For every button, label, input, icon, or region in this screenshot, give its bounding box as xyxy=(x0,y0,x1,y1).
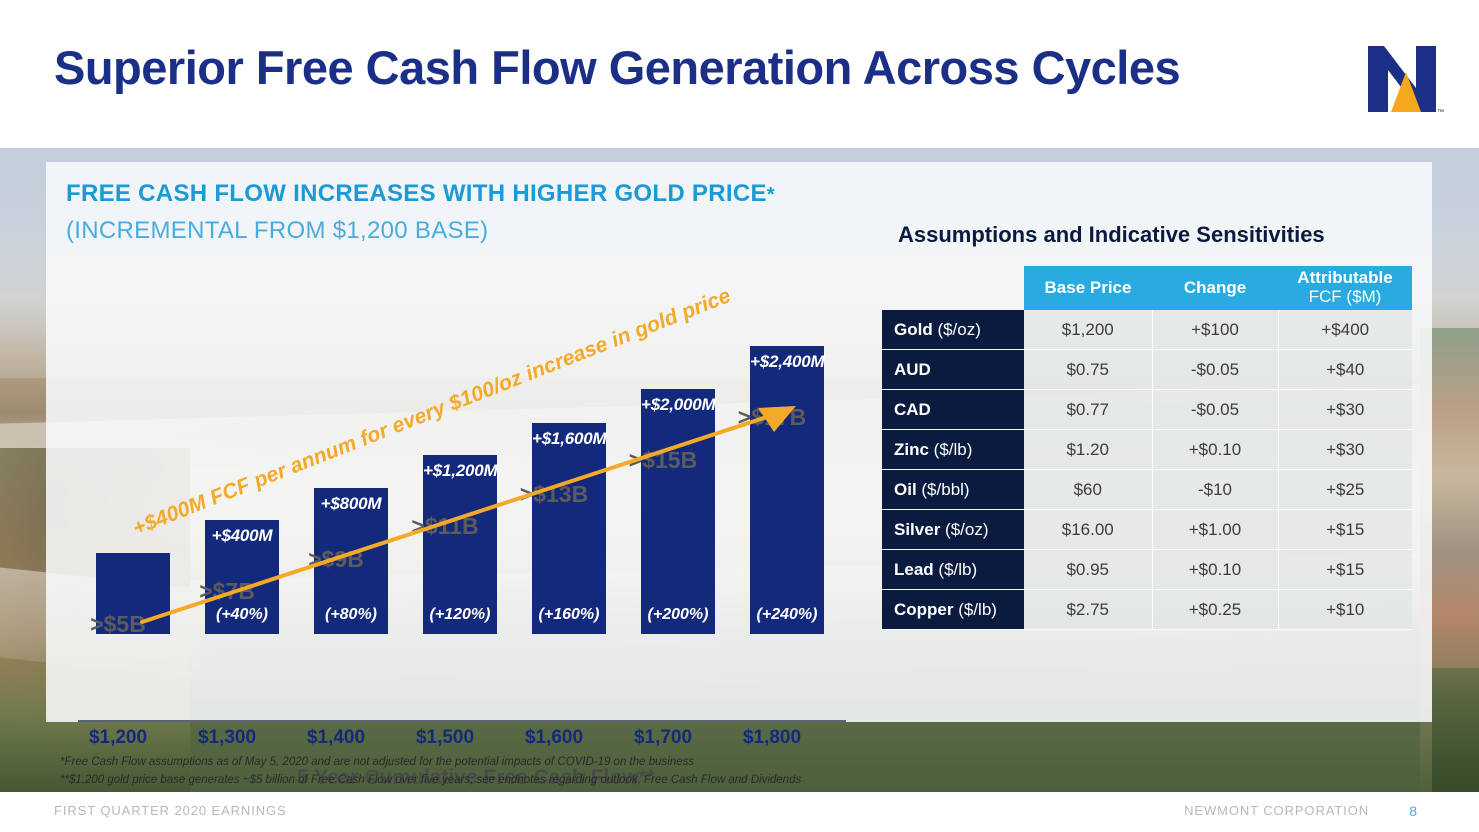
chart-bar: +$400M (+40%) xyxy=(205,520,279,634)
table-row: AUD $0.75 -$0.05 +$40 xyxy=(882,350,1412,390)
footer-presentation-name: FIRST QUARTER 2020 EARNINGS xyxy=(54,803,287,818)
row-name: CAD xyxy=(894,400,931,419)
row-label-cad: CAD xyxy=(882,390,1024,430)
bar-increment-label: +$400M xyxy=(205,526,279,546)
column-header-change: Change xyxy=(1152,266,1278,310)
bar-total-label: >$9B xyxy=(281,546,391,573)
bar-total-label: >$11B xyxy=(390,513,500,540)
table-row: Copper ($/lb) $2.75 +$0.25 +$10 xyxy=(882,590,1412,630)
bar-total-label: >$13B xyxy=(499,481,609,508)
chart-heading-text: FREE CASH FLOW INCREASES WITH HIGHER GOL… xyxy=(66,180,767,207)
chart-plot-area: +$400M (+40%) +$800M (+80%) +$1,200M (+1… xyxy=(78,248,848,634)
row-unit: ($/oz) xyxy=(933,320,981,339)
bar-percent-label: (+80%) xyxy=(314,606,388,624)
row-label-silver: Silver ($/oz) xyxy=(882,510,1024,550)
cell-change: -$10 xyxy=(1152,470,1278,510)
page-footer: FIRST QUARTER 2020 EARNINGS NEWMONT CORP… xyxy=(0,792,1479,832)
column-header-line1: Attributable xyxy=(1297,268,1392,287)
bar-increment-label: +$800M xyxy=(314,494,388,514)
column-header-line2: FCF ($M) xyxy=(1309,287,1382,306)
chart-xtick: $1,200 xyxy=(63,727,173,749)
chart-bar: +$1,200M (+120%) xyxy=(423,455,497,634)
bar-increment-label: +$1,600M xyxy=(532,429,606,449)
footer-company-name: NEWMONT CORPORATION xyxy=(1184,803,1369,818)
row-label-copper: Copper ($/lb) xyxy=(882,590,1024,630)
photo-right-vegetation xyxy=(1432,668,1479,792)
newmont-logo: ™ xyxy=(1360,42,1444,118)
bar-percent-label: (+240%) xyxy=(750,606,824,624)
row-unit: ($/lb) xyxy=(934,560,977,579)
chart-xtick: $1,700 xyxy=(608,727,718,749)
column-header-attributable-fcf: Attributable FCF ($M) xyxy=(1278,266,1412,310)
cell-fcf: +$15 xyxy=(1278,550,1412,590)
chart-baseline xyxy=(78,720,846,722)
table-header-row: Base Price Change Attributable FCF ($M) xyxy=(882,266,1412,310)
slide-header: Superior Free Cash Flow Generation Acros… xyxy=(0,0,1479,148)
cell-change: +$0.10 xyxy=(1152,550,1278,590)
sensitivities-table: Base Price Change Attributable FCF ($M) … xyxy=(882,266,1412,630)
chart-xtick: $1,400 xyxy=(281,727,391,749)
row-name: Gold xyxy=(894,320,933,339)
cell-fcf: +$10 xyxy=(1278,590,1412,630)
footer-page-number: 8 xyxy=(1409,803,1417,819)
cell-fcf: +$30 xyxy=(1278,390,1412,430)
cell-base-price: $1.20 xyxy=(1024,430,1152,470)
bar-total-label: >$17B xyxy=(717,404,827,431)
content-card: FREE CASH FLOW INCREASES WITH HIGHER GOL… xyxy=(46,162,1432,722)
footnote-line-1: *Free Cash Flow assumptions as of May 5,… xyxy=(60,754,801,772)
slide: Superior Free Cash Flow Generation Acros… xyxy=(0,0,1479,832)
cell-base-price: $1,200 xyxy=(1024,310,1152,350)
chart-xtick: $1,300 xyxy=(172,727,282,749)
column-header-blank xyxy=(882,266,1024,310)
cell-change: +$0.10 xyxy=(1152,430,1278,470)
table-row: Zinc ($/lb) $1.20 +$0.10 +$30 xyxy=(882,430,1412,470)
table-row: Oil ($/bbl) $60 -$10 +$25 xyxy=(882,470,1412,510)
chart-xtick: $1,600 xyxy=(499,727,609,749)
bar-total-label: >$15B xyxy=(608,447,718,474)
row-label-zinc: Zinc ($/lb) xyxy=(882,430,1024,470)
bar-percent-label: (+160%) xyxy=(532,606,606,624)
row-name: AUD xyxy=(894,360,931,379)
chart-heading-asterisk: * xyxy=(767,184,775,206)
row-label-oil: Oil ($/bbl) xyxy=(882,470,1024,510)
cell-change: +$100 xyxy=(1152,310,1278,350)
row-label-gold: Gold ($/oz) xyxy=(882,310,1024,350)
row-label-aud: AUD xyxy=(882,350,1024,390)
row-name: Zinc xyxy=(894,440,929,459)
footnotes: *Free Cash Flow assumptions as of May 5,… xyxy=(60,754,801,790)
bar-increment-label: +$2,400M xyxy=(750,352,824,372)
cell-change: -$0.05 xyxy=(1152,350,1278,390)
bar-total-label: >$7B xyxy=(172,578,282,605)
fcf-bar-chart: +$400M (+40%) +$800M (+80%) +$1,200M (+1… xyxy=(66,248,866,668)
cell-base-price: $60 xyxy=(1024,470,1152,510)
cell-fcf: +$30 xyxy=(1278,430,1412,470)
table-row: Silver ($/oz) $16.00 +$1.00 +$15 xyxy=(882,510,1412,550)
page-title: Superior Free Cash Flow Generation Acros… xyxy=(54,40,1180,95)
bar-total-label: >$5B xyxy=(63,611,173,638)
column-header-base-price: Base Price xyxy=(1024,266,1152,310)
cell-base-price: $2.75 xyxy=(1024,590,1152,630)
table-row: CAD $0.77 -$0.05 +$30 xyxy=(882,390,1412,430)
cell-base-price: $0.77 xyxy=(1024,390,1152,430)
chart-subheading: (INCREMENTAL FROM $1,200 BASE) xyxy=(66,217,488,245)
chart-heading: FREE CASH FLOW INCREASES WITH HIGHER GOL… xyxy=(66,180,775,208)
bar-increment-label: +$1,200M xyxy=(423,461,497,481)
table-row: Gold ($/oz) $1,200 +$100 +$400 xyxy=(882,310,1412,350)
bar-increment-label: +$2,000M xyxy=(641,395,715,415)
cell-base-price: $0.75 xyxy=(1024,350,1152,390)
cell-fcf: +$40 xyxy=(1278,350,1412,390)
chart-xtick: $1,500 xyxy=(390,727,500,749)
row-label-lead: Lead ($/lb) xyxy=(882,550,1024,590)
table-body: Gold ($/oz) $1,200 +$100 +$400 AUD $0.75… xyxy=(882,310,1412,630)
cell-change: +$0.25 xyxy=(1152,590,1278,630)
chart-bar: +$2,000M (+200%) xyxy=(641,389,715,634)
cell-base-price: $0.95 xyxy=(1024,550,1152,590)
cell-fcf: +$15 xyxy=(1278,510,1412,550)
row-name: Lead xyxy=(894,560,934,579)
table-title: Assumptions and Indicative Sensitivities xyxy=(898,222,1325,248)
bar-percent-label: (+120%) xyxy=(423,606,497,624)
cell-fcf: +$400 xyxy=(1278,310,1412,350)
bar-percent-label: (+200%) xyxy=(641,606,715,624)
row-unit: ($/lb) xyxy=(929,440,972,459)
row-unit: ($/bbl) xyxy=(917,480,970,499)
table-row: Lead ($/lb) $0.95 +$0.10 +$15 xyxy=(882,550,1412,590)
footnote-line-2: **$1,200 gold price base generates ~$5 b… xyxy=(60,772,801,790)
cell-change: +$1.00 xyxy=(1152,510,1278,550)
cell-change: -$0.05 xyxy=(1152,390,1278,430)
table-header: Base Price Change Attributable FCF ($M) xyxy=(882,266,1412,310)
cell-base-price: $16.00 xyxy=(1024,510,1152,550)
row-unit: ($/oz) xyxy=(940,520,988,539)
row-name: Copper xyxy=(894,600,954,619)
chart-bar: +$2,400M (+240%) xyxy=(750,346,824,634)
chart-bar: +$1,600M (+160%) xyxy=(532,423,606,634)
svg-text:™: ™ xyxy=(1437,109,1444,116)
row-name: Silver xyxy=(894,520,940,539)
cell-fcf: +$25 xyxy=(1278,470,1412,510)
bar-percent-label: (+40%) xyxy=(205,606,279,624)
row-unit: ($/lb) xyxy=(954,600,997,619)
chart-xtick: $1,800 xyxy=(717,727,827,749)
row-name: Oil xyxy=(894,480,917,499)
